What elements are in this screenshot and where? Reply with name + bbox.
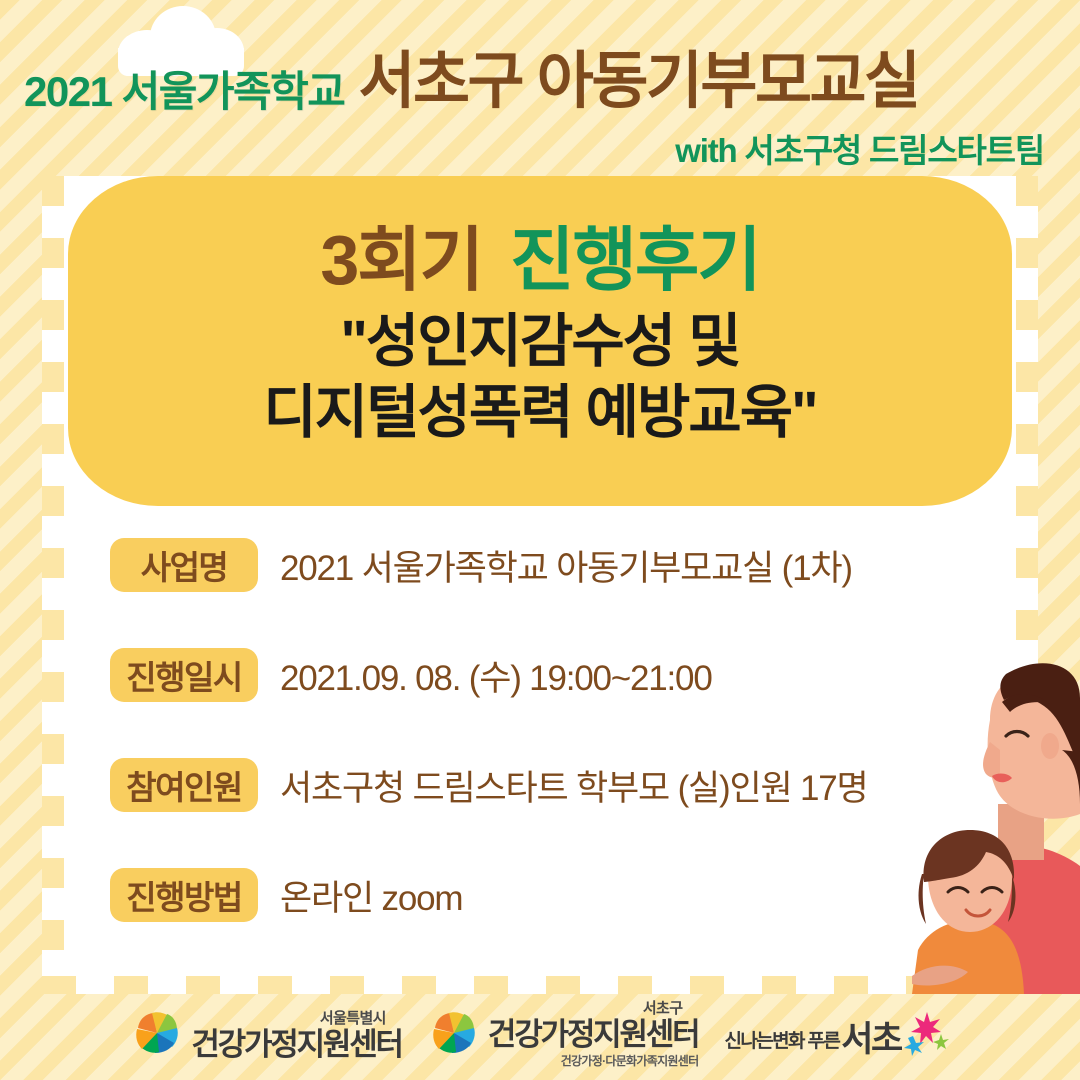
info-label-badge: 진행일시 <box>110 648 258 702</box>
logo-text-block: 서울특별시 건강가정지원센터 <box>191 1007 402 1060</box>
logo-text-block: 서초구 건강가정지원센터 건강가정·다문화가족지원센터 <box>488 997 699 1069</box>
info-label-badge: 참여인원 <box>110 758 258 812</box>
mother-and-child-illustration <box>894 654 1080 994</box>
title-episode: 3회기 <box>320 225 482 295</box>
title-card: 3회기 진행후기 "성인지감수성 및 디지털성폭력 예방교육" <box>68 176 1012 506</box>
info-row: 진행일시 2021.09. 08. (수) 19:00~21:00 <box>110 638 1010 712</box>
info-list: 사업명 2021 서울가족학교 아동기부모교실 (1차) 진행일시 2021.0… <box>110 528 1010 968</box>
pinwheel-icon <box>428 1007 480 1059</box>
logo-seoul-healthy-family-support-center: 서울특별시 건강가정지원센터 <box>131 1007 402 1060</box>
info-row: 참여인원 서초구청 드림스타트 학부모 (실)인원 17명 <box>110 748 1010 822</box>
header-kicker: 2021 서울가족학교 <box>24 71 344 113</box>
logo-seocho-healthy-family-support-center: 서초구 건강가정지원센터 건강가정·다문화가족지원센터 <box>428 997 699 1069</box>
pinwheel-icon <box>131 1007 183 1059</box>
logo-main-label: 건강가정지원센터 <box>488 1019 699 1050</box>
info-value: 2021 서울가족학교 아동기부모교실 (1차) <box>280 540 852 591</box>
header-with-line: with 서초구청 드림스타트팀 <box>675 124 1044 172</box>
info-row: 진행방법 온라인 zoom <box>110 858 1010 932</box>
logo-main-label: 건강가정지원센터 <box>191 1029 402 1060</box>
title-card-heading: 3회기 진행후기 <box>320 225 759 295</box>
logo-top-label: 서울특별시 <box>320 1007 402 1028</box>
header-title-line: 2021 서울가족학교 서초구 아동기부모교실 <box>24 52 1060 113</box>
sparkle-stars-icon <box>903 1010 949 1056</box>
title-subtitle-line-1: "성인지감수성 및 <box>340 307 739 378</box>
info-value: 서초구청 드림스타트 학부모 (실)인원 17명 <box>280 760 868 811</box>
logo-top-label: 서초구 <box>643 997 699 1018</box>
footer-logos: 서울특별시 건강가정지원센터 서초구 건강가정지원센터 건 <box>0 990 1080 1080</box>
info-label-badge: 사업명 <box>110 538 258 592</box>
info-value: 2021.09. 08. (수) 19:00~21:00 <box>280 650 712 701</box>
logo-sub-label: 건강가정·다문화가족지원센터 <box>561 1052 699 1069</box>
logo-brand-name: 서초 <box>841 1023 900 1056</box>
info-row: 사업명 2021 서울가족학교 아동기부모교실 (1차) <box>110 528 1010 602</box>
logo-brand-prefix: 신나는변화 푸른 <box>724 1026 839 1056</box>
title-review: 진행후기 <box>510 225 760 295</box>
title-subtitle-line-2: 디지털성폭력 예방교육" <box>263 378 816 449</box>
poster-header: 2021 서울가족학교 서초구 아동기부모교실 with 서초구청 드림스타트팀 <box>0 0 1080 172</box>
info-label-badge: 진행방법 <box>110 868 258 922</box>
poster-root: 2021 서울가족학교 서초구 아동기부모교실 with 서초구청 드림스타트팀… <box>0 0 1080 1080</box>
logo-seocho-gu-brand: 신나는변화 푸른 서초 <box>724 1010 948 1056</box>
header-main-title: 서초구 아동기부모교실 <box>358 52 918 113</box>
info-value: 온라인 zoom <box>280 870 462 921</box>
